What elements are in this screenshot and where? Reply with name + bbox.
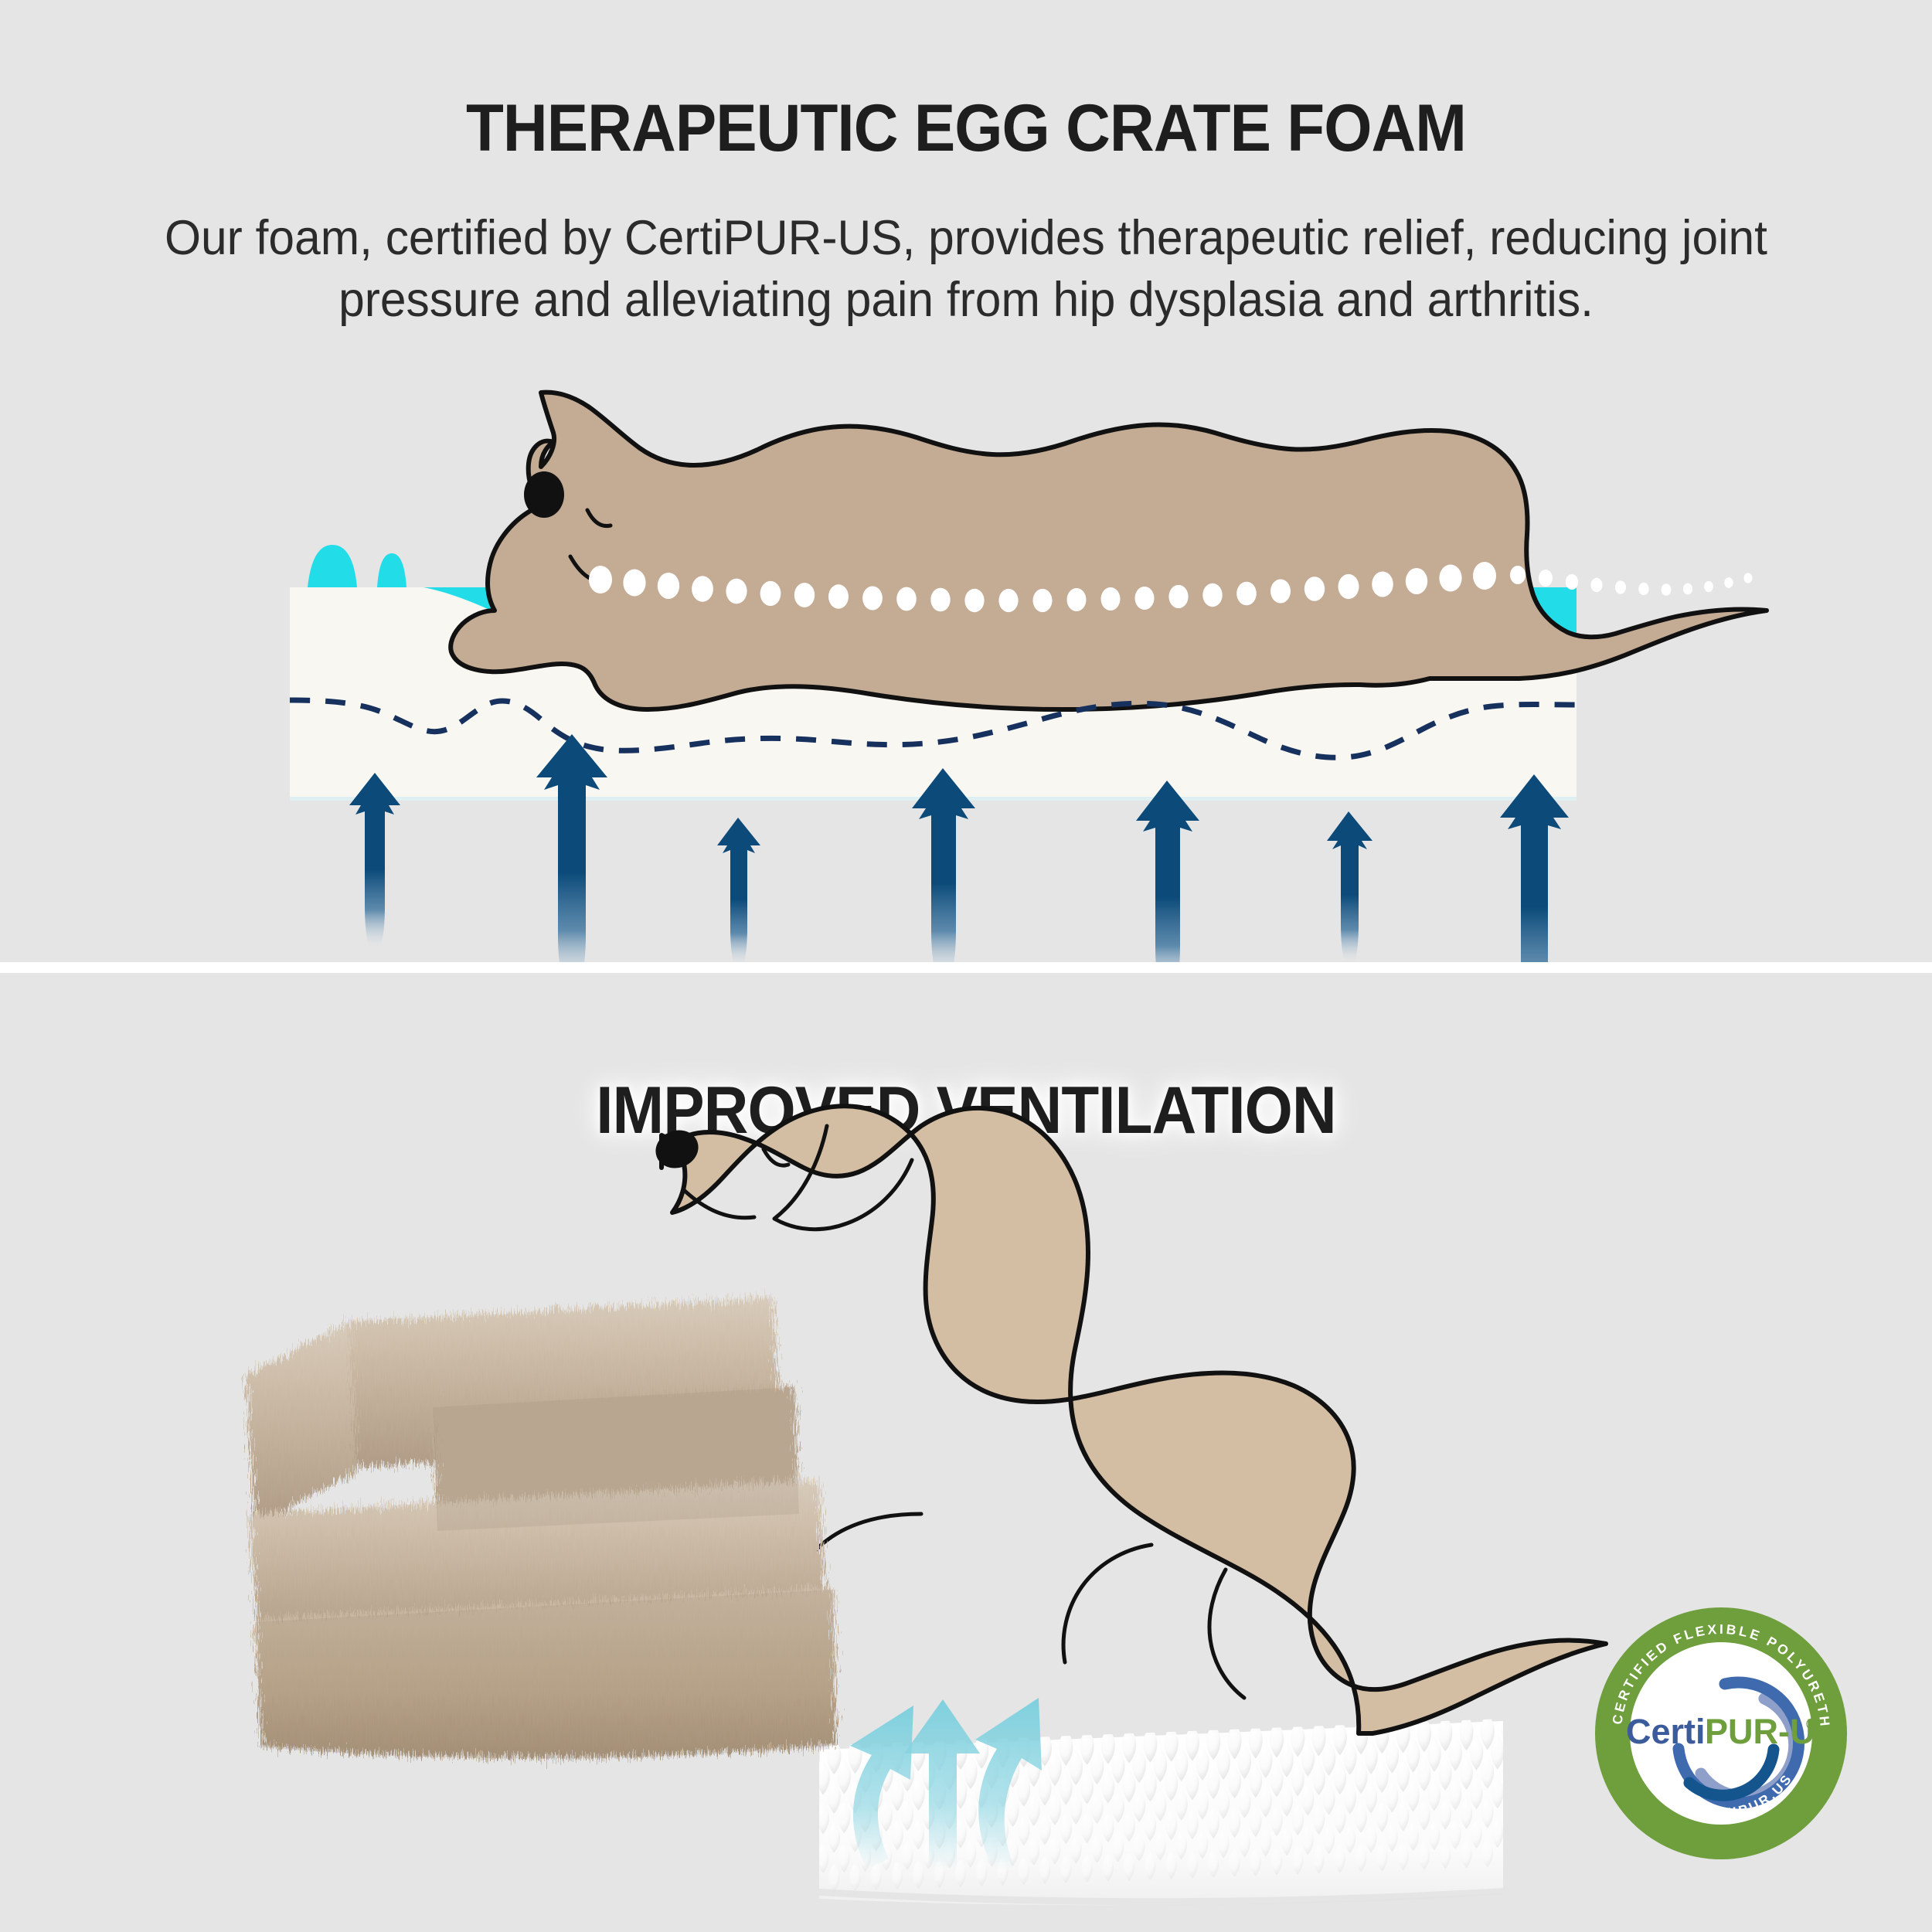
registered-mark: ® <box>1806 1716 1818 1733</box>
certipur-us-badge: Certi PUR-US ® CONTAINS CERTIFIED FLEXIB… <box>1594 1606 1849 1861</box>
therapeutic-foam-section: THERAPEUTIC EGG CRATE FOAM Our foam, cer… <box>0 0 1932 962</box>
dog-nose-icon <box>524 471 564 518</box>
certipur-wordmark: Certi PUR-US ® <box>1626 1712 1838 1751</box>
plush-dog-bed <box>246 1293 836 1761</box>
dog-illustration-lying <box>451 393 1767 709</box>
section-divider <box>0 962 1932 973</box>
brand-certi: Certi <box>1626 1712 1706 1751</box>
pressure-relief-diagram <box>0 0 1932 962</box>
